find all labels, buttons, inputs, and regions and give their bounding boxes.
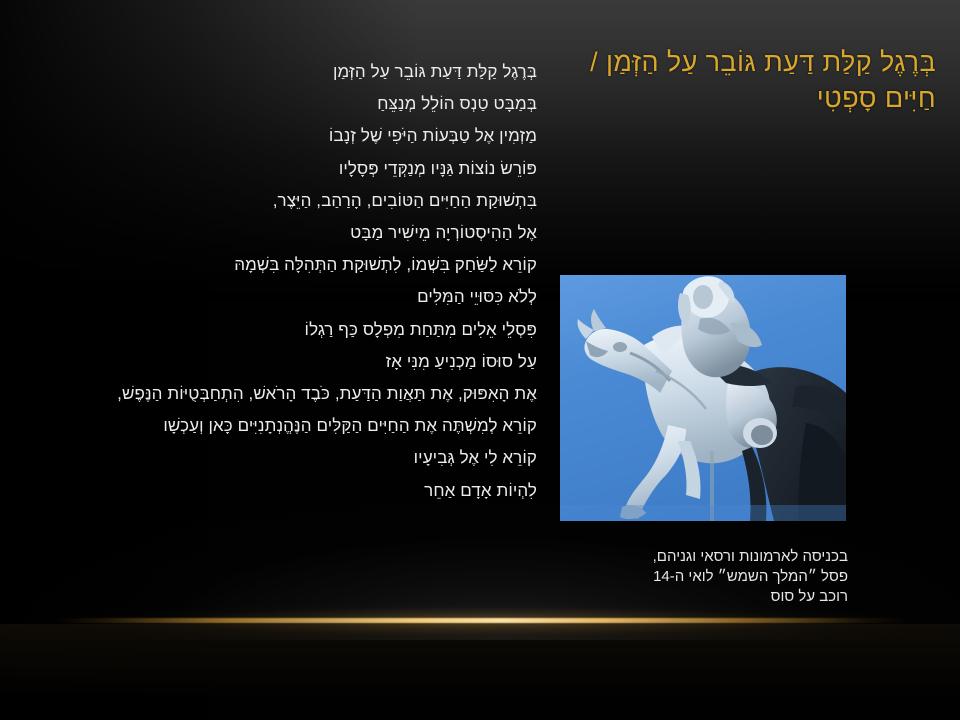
presentation-slide: בְּרֶגֶל קַלַּת דַּעַת גּוֹבֵר עַל הַזְּ… [0,0,960,720]
poem-body: בְּרֶגֶל קַלַּת דַּעַת גּוֹבֵר עַל הַזְּ… [0,56,537,507]
poem-line: אֶל הַהִיסְטוֹרְיָה מֵישִׁיר מַבָּט [0,217,537,249]
poem-line: לִהְיוֹת אָדָם אַחֵר [0,475,537,507]
poem-line: אֶת הָאִפּוּק, אֶת תַּאֲוַת הַדַּעַת, כֹ… [0,378,537,410]
poem-line: קוֹרֵא לַשַּׂחַק בִּשְׁמוֹ, לִתְשׁוּקַת … [0,249,537,281]
poem-line: בְּמַבָּט טַנְס הוֹלֵל מְנַצֵּחַ [0,88,537,120]
poem-line: בְּרֶגֶל קַלַּת דַּעַת גּוֹבֵר עַל הַזְּ… [0,56,537,88]
poem-line: קוֹרֵא לִי אֶל גְּבִיעָיו [0,442,537,474]
gold-divider-streak [55,618,915,623]
caption-line: רוכב על סוס [428,587,848,607]
poem-line: עַל סוּסוֹ מַכְנִיעַ מִנִּי אָז [0,346,537,378]
poem-line: מַזְמִין אֶל טַבְּעוֹת הַיֹּפִי שֶׁל זְנ… [0,120,537,152]
equestrian-statue-photo [560,275,846,521]
caption-line: פסל ״המלך השמש״ לואי ה-14 [428,567,848,587]
poem-line: פִּסְלֵי אֵלִים מִתַּחַת מִפְלָס כַּף רַ… [0,314,537,346]
photo-caption: בכניסה לארמונות ורסאי וגניהם, פסל ״המלך … [428,547,848,607]
poem-line: קוֹרֵא לְמִשְׁתֶּה אֶת הַחַיִּים הַקַּלִ… [0,410,537,442]
poem-line: בִּתְשׁוּקַת הַחַיִּים הַטּוֹבִים, הָרַה… [0,185,537,217]
poem-line: לְלֹא כִּסּוּיֵי הַמִּלִּים [0,281,537,313]
caption-line: בכניסה לארמונות ורסאי וגניהם, [428,547,848,567]
poem-line: פּוֹרֵשׂ נוֹצוֹת גַּנָּיו מְנַקְּדֵי פְּ… [0,153,537,185]
